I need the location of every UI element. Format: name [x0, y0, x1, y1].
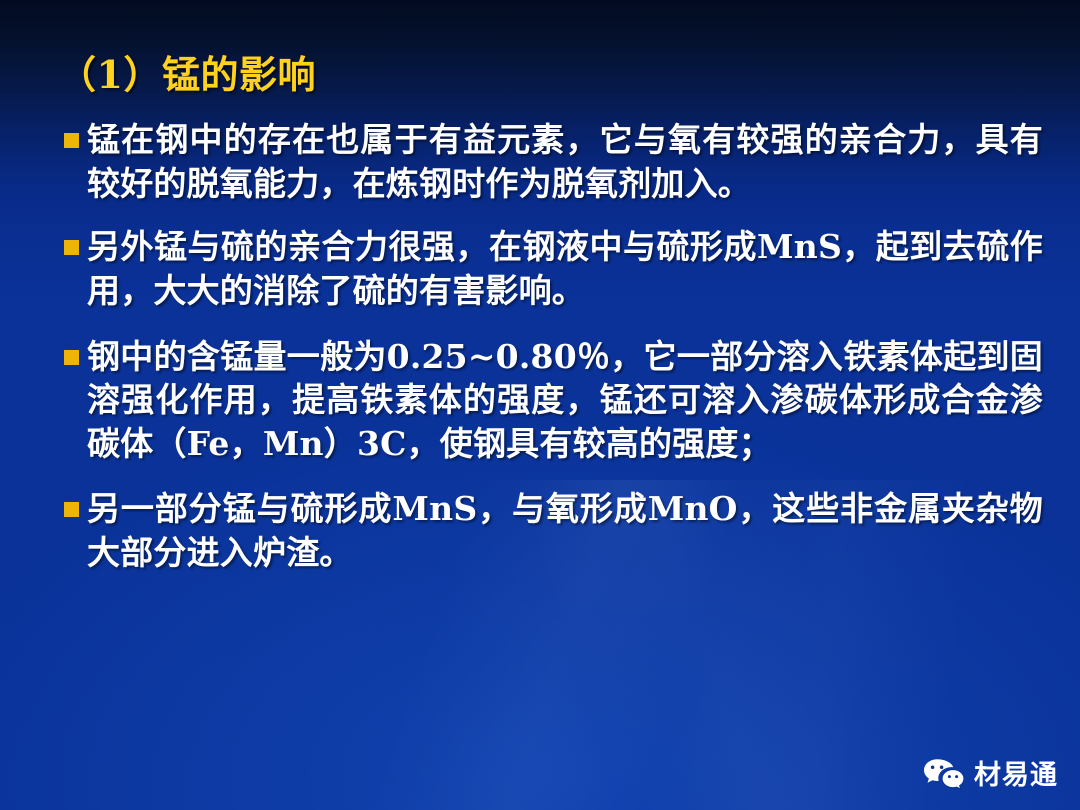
- bullet-text: 另一部分锰与硫形成MnS，与氧形成MnO，这些非金属夹杂物大部分进入炉渣。: [87, 487, 1043, 575]
- watermark: 材易通: [923, 758, 1058, 792]
- square-bullet-icon: [64, 240, 79, 255]
- bullet-text: 锰在钢中的存在也属于有益元素，它与氧有较强的亲合力，具有较好的脱氧能力，在炼钢时…: [87, 118, 1043, 206]
- bullet-item: 另一部分锰与硫形成MnS，与氧形成MnO，这些非金属夹杂物大部分进入炉渣。: [58, 487, 1043, 575]
- watermark-label: 材易通: [974, 762, 1058, 789]
- bullet-item: 锰在钢中的存在也属于有益元素，它与氧有较强的亲合力，具有较好的脱氧能力，在炼钢时…: [58, 118, 1043, 206]
- bullet-item: 钢中的含锰量一般为0.25~0.80％，它一部分溶入铁素体起到固溶强化作用，提高…: [58, 335, 1043, 467]
- square-bullet-icon: [64, 502, 79, 517]
- bullet-item: 另外锰与硫的亲合力很强，在钢液中与硫形成MnS，起到去硫作用，大大的消除了硫的有…: [58, 225, 1043, 313]
- slide-title: （1）锰的影响: [58, 53, 316, 97]
- square-bullet-icon: [64, 350, 79, 365]
- bullet-text: 钢中的含锰量一般为0.25~0.80％，它一部分溶入铁素体起到固溶强化作用，提高…: [87, 335, 1043, 467]
- presentation-slide: （1）锰的影响 锰在钢中的存在也属于有益元素，它与氧有较强的亲合力，具有较好的脱…: [0, 0, 1080, 810]
- wechat-icon: [923, 758, 965, 792]
- square-bullet-icon: [64, 133, 79, 148]
- bullet-text: 另外锰与硫的亲合力很强，在钢液中与硫形成MnS，起到去硫作用，大大的消除了硫的有…: [87, 225, 1043, 313]
- bullet-list: 锰在钢中的存在也属于有益元素，它与氧有较强的亲合力，具有较好的脱氧能力，在炼钢时…: [58, 118, 1043, 575]
